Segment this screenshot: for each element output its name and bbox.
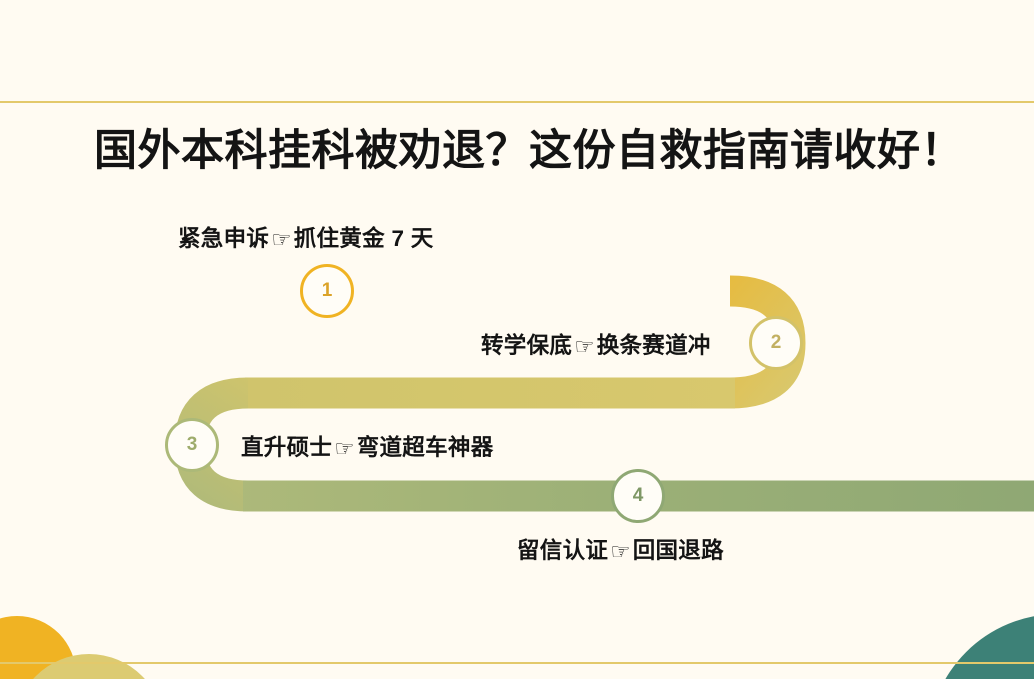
step-detail-4: 回国退路 <box>633 538 724 563</box>
step-label-1: 紧急申诉☞抓住黄金 7 天 <box>178 221 434 253</box>
step-detail-2: 换条赛道冲 <box>597 333 711 358</box>
pointing-hand-icon: ☞ <box>269 227 293 253</box>
step-label-4: 留信认证☞回国退路 <box>517 533 724 565</box>
step-node-2[interactable]: 2 <box>749 316 803 370</box>
step-number-3: 3 <box>187 434 198 456</box>
step-lead-2: 转学保底 <box>481 333 572 358</box>
step-detail-1: 抓住黄金 7 天 <box>294 226 434 251</box>
step-node-4[interactable]: 4 <box>611 469 665 523</box>
step-number-1: 1 <box>322 280 333 302</box>
step-number-2: 2 <box>771 332 782 354</box>
step-lead-1: 紧急申诉 <box>178 226 269 251</box>
step-node-1[interactable]: 1 <box>300 264 354 318</box>
step-number-4: 4 <box>633 485 644 507</box>
pointing-hand-icon: ☞ <box>572 334 596 360</box>
pointing-hand-icon: ☞ <box>608 539 632 565</box>
step-label-3: 直升硕士☞弯道超车神器 <box>241 430 494 462</box>
pointing-hand-icon: ☞ <box>332 436 356 462</box>
infographic-poster: 国外本科挂科被劝退？这份自救指南请收好！ <box>0 0 1034 679</box>
step-node-3[interactable]: 3 <box>165 418 219 472</box>
step-lead-3: 直升硕士 <box>241 435 332 460</box>
step-detail-3: 弯道超车神器 <box>357 435 494 460</box>
step-label-2: 转学保底☞换条赛道冲 <box>481 328 711 360</box>
step-lead-4: 留信认证 <box>517 538 608 563</box>
